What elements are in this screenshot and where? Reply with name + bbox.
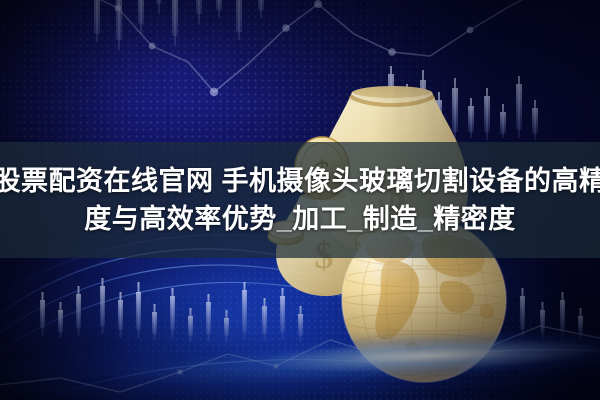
title-overlay-band: 股票配资在线官网 手机摄像头玻璃切割设备的高精 度与高效率优势_加工_制造_精密…: [0, 142, 600, 258]
light-beam-icon: [0, 319, 600, 400]
page-title-line-2: 度与高效率优势_加工_制造_精密度: [84, 200, 516, 238]
page-title-line-1: 股票配资在线官网 手机摄像头玻璃切割设备的高精: [0, 162, 600, 200]
stock-banner-image: $ $ $: [0, 0, 600, 400]
